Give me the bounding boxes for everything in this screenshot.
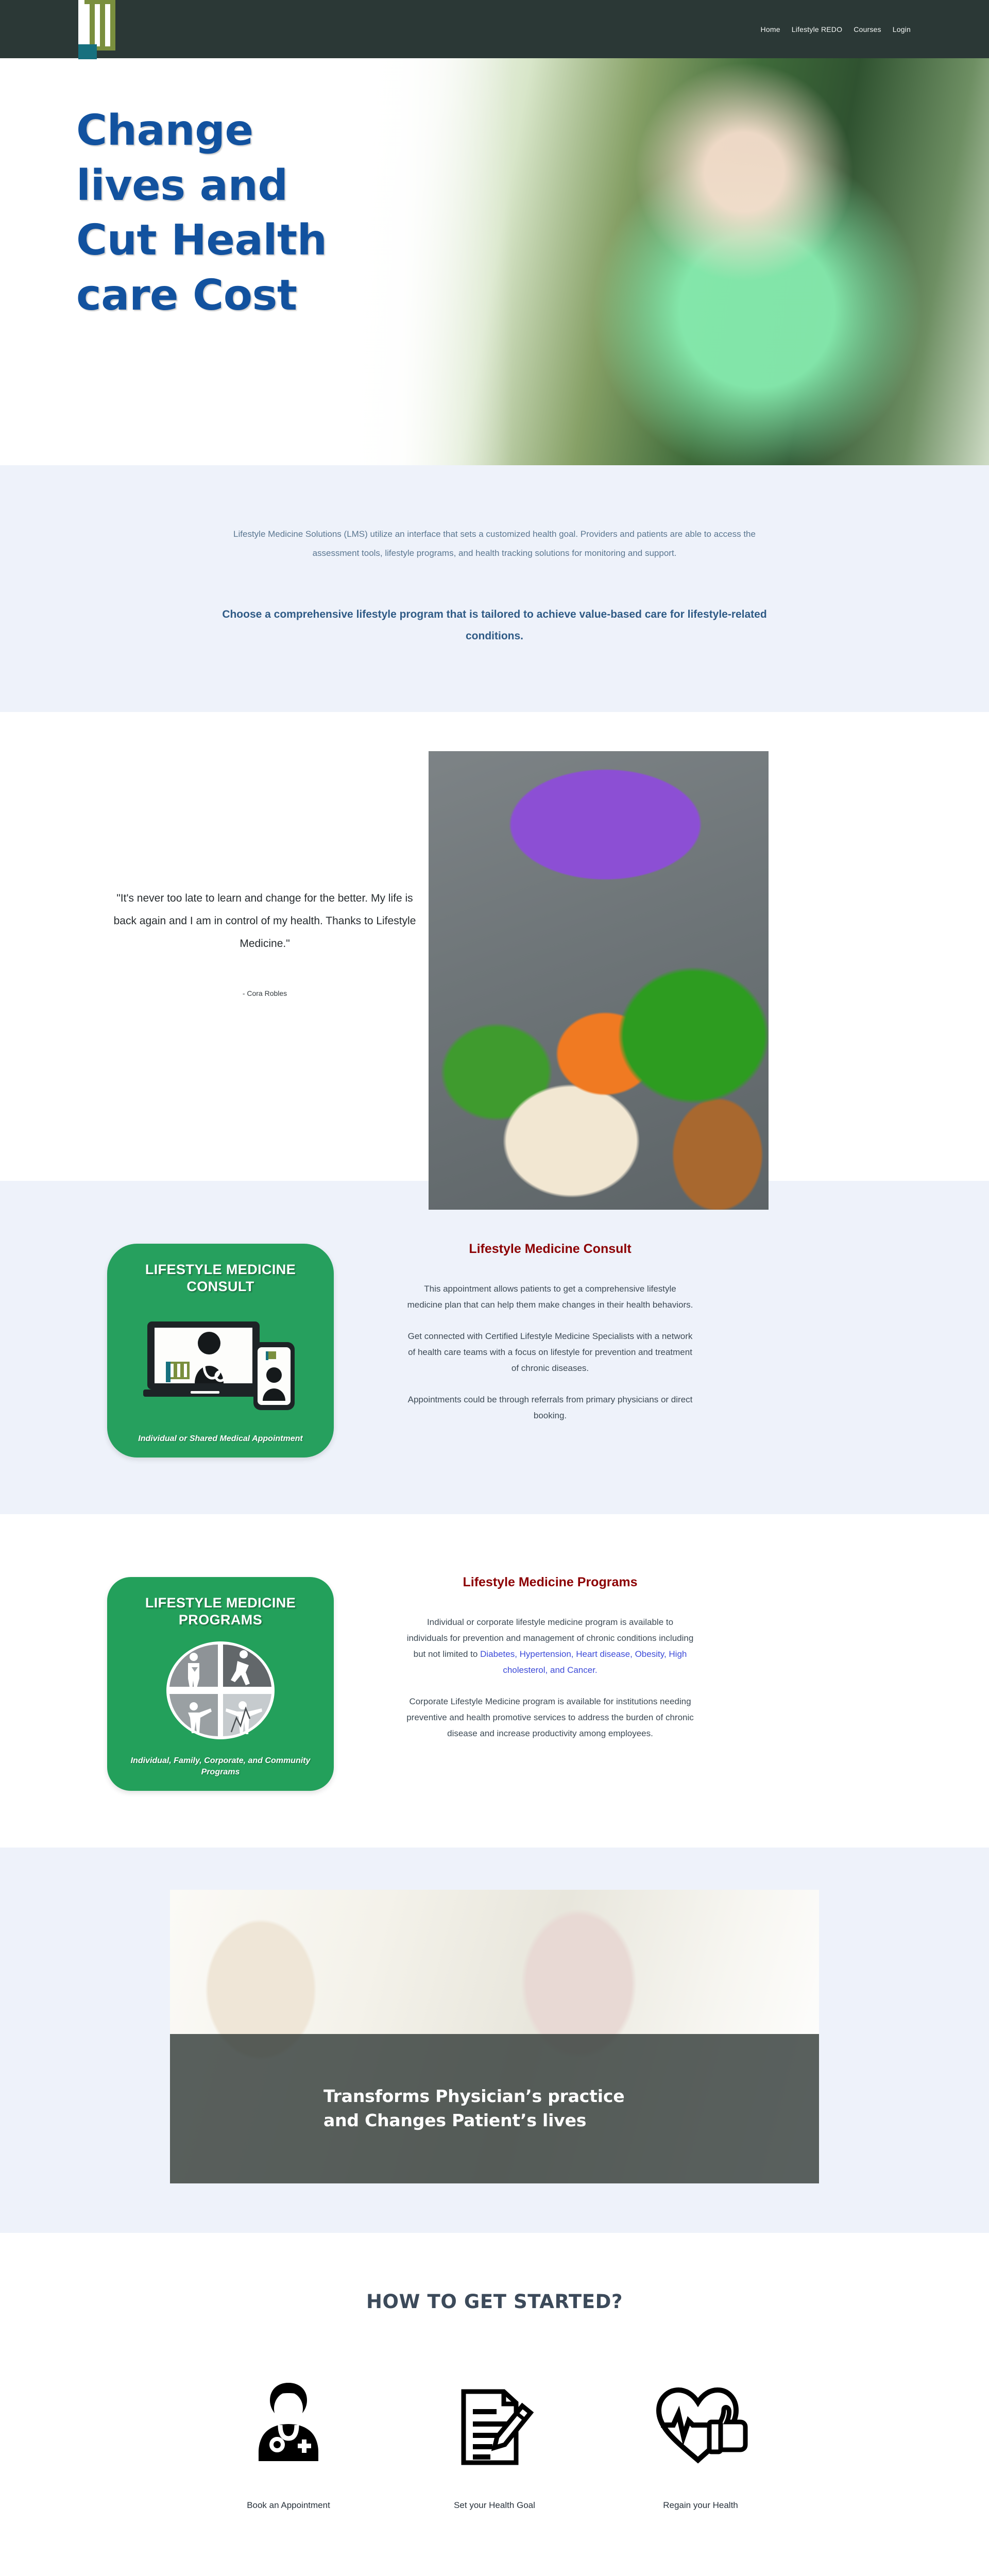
hero-line-1: Change bbox=[76, 106, 253, 155]
consult-text-column: Lifestyle Medicine Consult This appointm… bbox=[406, 1230, 694, 1439]
consult-paragraph-1: This appointment allows patients to get … bbox=[406, 1281, 694, 1313]
hero-line-4: care Cost bbox=[76, 271, 297, 320]
hero-copy: Change lives and Cut Health care Cost bbox=[76, 104, 437, 323]
programs-badge-title: LIFESTYLE MEDICINE PROGRAMS bbox=[120, 1595, 321, 1629]
consult-paragraph-2: Get connected with Certified Lifestyle M… bbox=[406, 1329, 694, 1377]
page-title: Change lives and Cut Health care Cost bbox=[76, 104, 437, 323]
physician-banner-overlay: Transforms Physician’s practice and Chan… bbox=[170, 2034, 819, 2183]
telehealth-devices-icon bbox=[120, 1295, 321, 1431]
step-label-1: Book an Appointment bbox=[247, 2500, 330, 2511]
testimonial-author: - Cora Robles bbox=[110, 989, 419, 997]
consult-badge-card: LIFESTYLE MEDICINE CONSULT bbox=[107, 1244, 334, 1458]
physician-banner-line-1: Transforms Physician’s practice bbox=[323, 2084, 819, 2109]
how-to-title: HOW TO GET STARTED? bbox=[0, 2291, 989, 2313]
physician-banner-image: Transforms Physician’s practice and Chan… bbox=[170, 1890, 819, 2183]
step-set-health-goal: Set your Health Goal bbox=[391, 2374, 598, 2511]
nav-link-login[interactable]: Login bbox=[893, 25, 911, 33]
programs-paragraph-2: Corporate Lifestyle Medicine program is … bbox=[406, 1694, 694, 1742]
nav-link-courses[interactable]: Courses bbox=[854, 25, 881, 33]
healthy-food-image bbox=[429, 751, 769, 1210]
nav-link-home[interactable]: Home bbox=[761, 25, 780, 33]
document-pencil-icon bbox=[448, 2374, 541, 2471]
consult-heading: Lifestyle Medicine Consult bbox=[406, 1242, 694, 1257]
programs-heading: Lifestyle Medicine Programs bbox=[406, 1575, 694, 1590]
testimonial-section: "It's never too late to learn and change… bbox=[0, 712, 989, 1181]
programs-badge-subtitle: Individual, Family, Corporate, and Commu… bbox=[120, 1755, 321, 1777]
lms-logo-icon[interactable] bbox=[76, 0, 93, 59]
how-to-get-started-section: HOW TO GET STARTED? Book an Appoint bbox=[0, 2233, 989, 2576]
programs-text-column: Lifestyle Medicine Programs Individual o… bbox=[406, 1564, 694, 1757]
wellness-quadrant-icon bbox=[120, 1629, 321, 1753]
programs-paragraph-1: Individual or corporate lifestyle medici… bbox=[406, 1615, 694, 1679]
consult-badge-subtitle: Individual or Shared Medical Appointment bbox=[138, 1433, 302, 1445]
intro-section: Lifestyle Medicine Solutions (LMS) utili… bbox=[0, 465, 989, 712]
heartbeat-thumbsup-icon bbox=[652, 2374, 749, 2471]
testimonial-text-block: "It's never too late to learn and change… bbox=[110, 887, 419, 997]
hero-image bbox=[345, 58, 989, 465]
programs-conditions-list: Diabetes, Hypertension, Heart disease, O… bbox=[480, 1649, 687, 1675]
steps-row: Book an Appointment bbox=[185, 2374, 804, 2511]
step-regain-health: Regain your Health bbox=[598, 2374, 804, 2511]
physician-banner-line-2: and Changes Patient’s lives bbox=[323, 2109, 819, 2133]
consult-section: LIFESTYLE MEDICINE CONSULT bbox=[0, 1181, 989, 1514]
hero-line-2: lives and bbox=[76, 161, 288, 210]
hero-section: Change lives and Cut Health care Cost bbox=[0, 58, 989, 465]
consult-paragraph-3: Appointments could be through referrals … bbox=[406, 1392, 694, 1424]
step-label-3: Regain your Health bbox=[663, 2500, 738, 2511]
testimonial-quote: "It's never too late to learn and change… bbox=[110, 887, 419, 955]
top-navigation-bar: Home Lifestyle REDO Courses Login bbox=[0, 0, 989, 58]
doctor-stethoscope-icon bbox=[247, 2374, 330, 2471]
programs-badge-card: LIFESTYLE MEDICINE PROGRAMS bbox=[107, 1577, 334, 1791]
landing-page: Home Lifestyle REDO Courses Login Change… bbox=[0, 0, 989, 2576]
physician-banner-section: Transforms Physician’s practice and Chan… bbox=[0, 1848, 989, 2233]
nav-link-lifestyle-redo[interactable]: Lifestyle REDO bbox=[792, 25, 843, 33]
intro-emphasis-text: Choose a comprehensive lifestyle program… bbox=[221, 604, 768, 647]
hero-line-3: Cut Health bbox=[76, 216, 327, 265]
nav-links: Home Lifestyle REDO Courses Login bbox=[761, 25, 911, 33]
intro-lead-text: Lifestyle Medicine Solutions (LMS) utili… bbox=[216, 525, 773, 563]
programs-section: LIFESTYLE MEDICINE PROGRAMS bbox=[0, 1514, 989, 1848]
step-label-2: Set your Health Goal bbox=[454, 2500, 535, 2511]
consult-badge-title: LIFESTYLE MEDICINE CONSULT bbox=[120, 1261, 321, 1295]
step-book-appointment: Book an Appointment bbox=[185, 2374, 391, 2511]
